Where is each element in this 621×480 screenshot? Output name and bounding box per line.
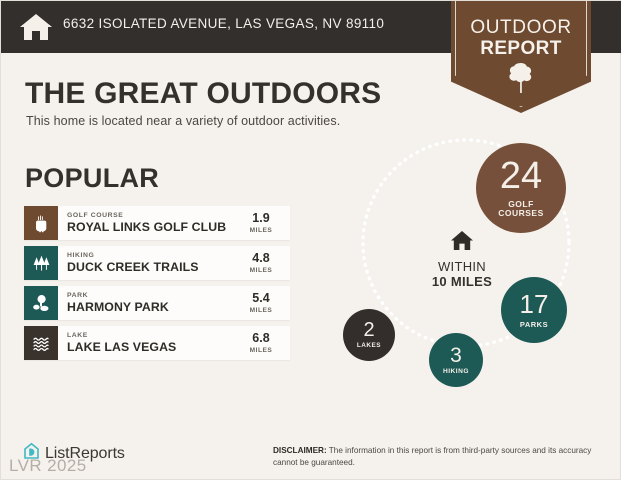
watermark: LVR 2025 — [9, 456, 87, 476]
list-item-category: PARK — [67, 292, 238, 299]
list-item-name: DUCK CREEK TRAILS — [67, 260, 238, 274]
popular-list: GOLF COURSE ROYAL LINKS GOLF CLUB 1.9 MI… — [24, 206, 290, 366]
home-icon — [19, 11, 53, 43]
list-item-name: HARMONY PARK — [67, 300, 238, 314]
bubble-golf-courses[interactable]: 24 GOLF COURSES — [476, 143, 566, 233]
distance-unit: MILES — [250, 227, 273, 234]
waves-icon — [24, 326, 58, 360]
outdoor-report-page: 6632 ISOLATED AVENUE, LAS VEGAS, NV 8911… — [0, 0, 621, 480]
list-item-distance: 4.8 MILES — [238, 246, 290, 280]
list-item-text: GOLF COURSE ROYAL LINKS GOLF CLUB — [58, 206, 238, 240]
center-line-2: 10 MILES — [407, 274, 517, 289]
list-item-category: LAKE — [67, 332, 238, 339]
golf-bag-icon — [24, 206, 58, 240]
disclaimer-label: DISCLAIMER: — [273, 446, 327, 455]
list-item[interactable]: PARK HARMONY PARK 5.4 MILES — [24, 286, 290, 320]
trees-icon — [24, 246, 58, 280]
tree-icon — [506, 61, 536, 95]
list-item-name: ROYAL LINKS GOLF CLUB — [67, 220, 238, 234]
bubble-hiking[interactable]: 3 HIKING — [429, 333, 483, 387]
list-item[interactable]: GOLF COURSE ROYAL LINKS GOLF CLUB 1.9 MI… — [24, 206, 290, 240]
list-item-distance: 6.8 MILES — [238, 326, 290, 360]
center-line-1: WITHIN — [407, 259, 517, 274]
property-address: 6632 ISOLATED AVENUE, LAS VEGAS, NV 8911… — [63, 16, 384, 31]
bubble-value: 17 — [520, 291, 549, 317]
disclaimer: DISCLAIMER: The information in this repo… — [273, 445, 593, 469]
page-title: THE GREAT OUTDOORS — [25, 77, 381, 111]
list-item-text: PARK HARMONY PARK — [58, 286, 238, 320]
list-item-category: HIKING — [67, 252, 238, 259]
list-item-text: HIKING DUCK CREEK TRAILS — [58, 246, 238, 280]
distance-value: 6.8 — [252, 332, 269, 345]
bubble-label: PARKS — [520, 321, 548, 329]
distance-unit: MILES — [250, 267, 273, 274]
bubble-value: 2 — [363, 320, 374, 340]
badge-line-1: OUTDOOR — [451, 17, 591, 39]
list-item-name: LAKE LAS VEGAS — [67, 340, 238, 354]
distance-value: 5.4 — [252, 292, 269, 305]
bubble-value: 3 — [450, 345, 462, 366]
within-radius-center: WITHIN 10 MILES — [407, 229, 517, 289]
list-item-text: LAKE LAKE LAS VEGAS — [58, 326, 238, 360]
bubble-label: LAKES — [357, 343, 381, 350]
distance-unit: MILES — [250, 347, 273, 354]
bubble-label: GOLF COURSES — [498, 200, 544, 218]
distance-unit: MILES — [250, 307, 273, 314]
park-tree-icon — [24, 286, 58, 320]
page-subtitle: This home is located near a variety of o… — [26, 114, 340, 128]
popular-heading: POPULAR — [25, 163, 159, 194]
list-item-distance: 5.4 MILES — [238, 286, 290, 320]
bubble-label-line-2: COURSES — [498, 209, 544, 218]
badge-line-2: REPORT — [451, 38, 591, 60]
infographic: WITHIN 10 MILES 24 GOLF COURSES 17 PARKS… — [321, 131, 611, 411]
list-item[interactable]: HIKING DUCK CREEK TRAILS 4.8 MILES — [24, 246, 290, 280]
bubble-parks[interactable]: 17 PARKS — [501, 277, 567, 343]
list-item-distance: 1.9 MILES — [238, 206, 290, 240]
list-item[interactable]: LAKE LAKE LAS VEGAS 6.8 MILES — [24, 326, 290, 360]
list-item-category: GOLF COURSE — [67, 212, 238, 219]
bubble-value: 24 — [500, 157, 542, 195]
distance-value: 1.9 — [252, 212, 269, 225]
outdoor-report-badge: OUTDOOR REPORT — [451, 1, 591, 113]
bubble-lakes[interactable]: 2 LAKES — [343, 309, 395, 361]
distance-value: 4.8 — [252, 252, 269, 265]
bubble-label: HIKING — [443, 369, 469, 376]
home-icon — [450, 239, 474, 256]
